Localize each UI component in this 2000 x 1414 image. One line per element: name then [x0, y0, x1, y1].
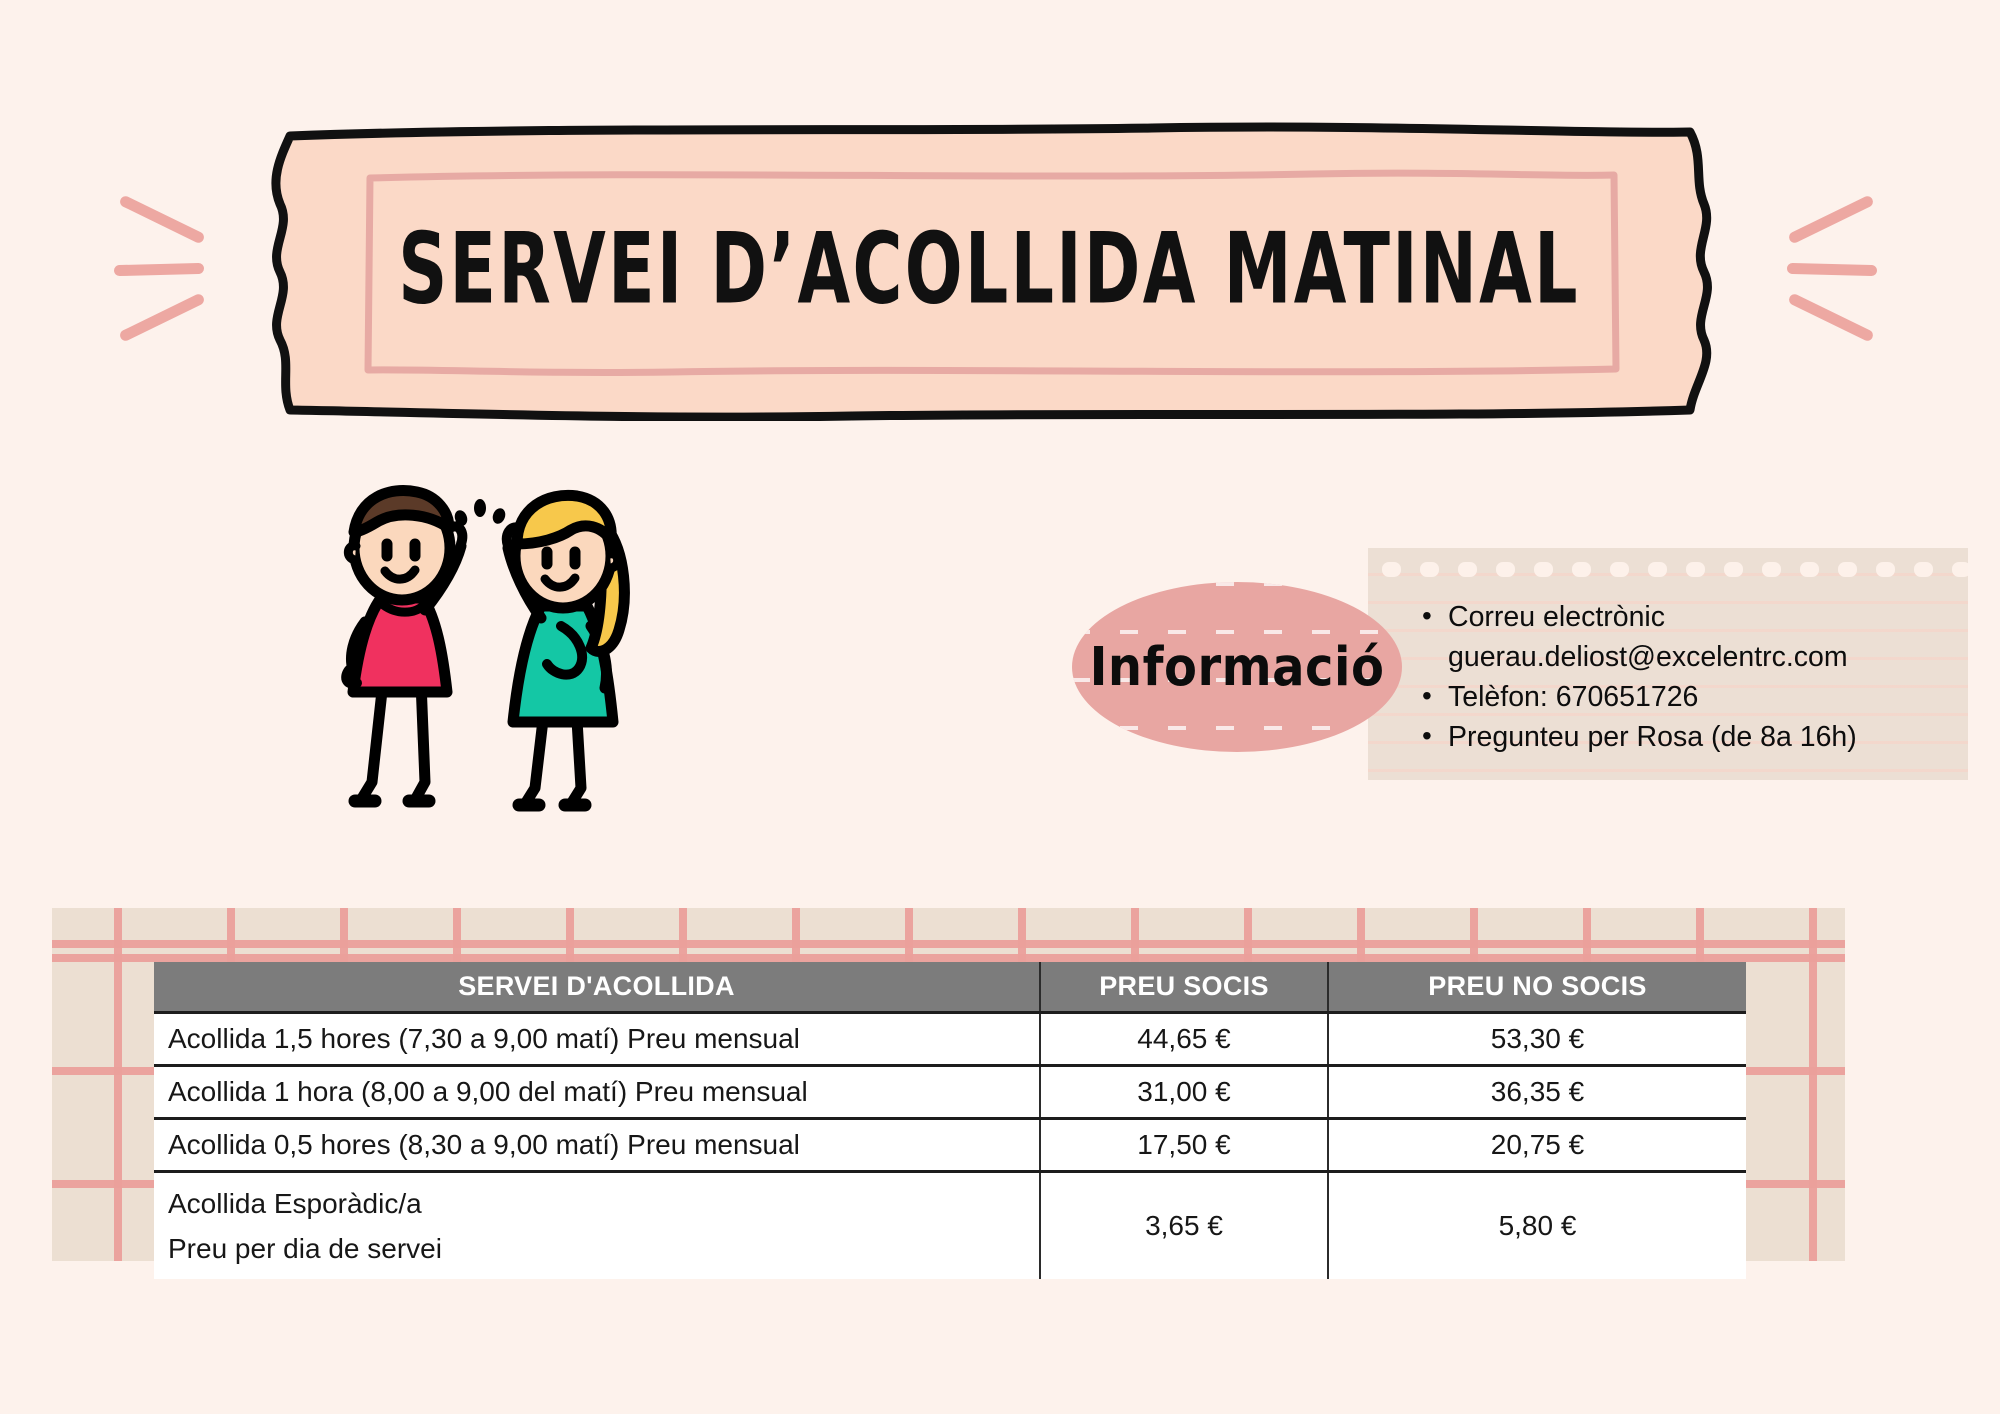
sparkle-line-left-1	[118, 194, 206, 244]
informacio-badge: Informació	[1072, 582, 1402, 752]
title-banner: SERVEI D’ACOLLIDA MATINAL	[252, 122, 1726, 421]
table-header-row: SERVEI D'ACOLLIDA PREU SOCIS PREU NO SOC…	[154, 962, 1746, 1013]
page-title: SERVEI D’ACOLLIDA MATINAL	[311, 74, 1667, 469]
contact-email-value[interactable]: guerau.deliost@excelentrc.com	[1448, 641, 1848, 673]
list-item: Correu electrònic guerau.deliost@excelen…	[1422, 597, 1968, 677]
sparkle-line-right-2	[1787, 263, 1877, 276]
cell-price-non-members: 20,75 €	[1328, 1119, 1746, 1172]
cell-price-non-members: 36,35 €	[1328, 1066, 1746, 1119]
cell-price-members: 44,65 €	[1040, 1013, 1328, 1066]
cell-service-line2: Preu per dia de servei	[168, 1226, 1039, 1271]
cell-price-members: 3,65 €	[1040, 1172, 1328, 1280]
table-row: Acollida 0,5 hores (8,30 a 9,00 matí) Pr…	[154, 1119, 1746, 1172]
contact-person: Pregunteu per Rosa (de 8a 16h)	[1448, 721, 1857, 753]
informacio-badge-label: Informació	[1090, 636, 1385, 699]
cell-service: Acollida Esporàdic/a Preu per dia de ser…	[154, 1172, 1040, 1280]
column-header-price-non-members: PREU NO SOCIS	[1328, 962, 1746, 1013]
sparkle-line-right-1	[1787, 194, 1875, 244]
column-header-service: SERVEI D'ACOLLIDA	[154, 962, 1040, 1013]
children-high-five-illustration	[325, 470, 655, 815]
cell-service: Acollida 1,5 hores (7,30 a 9,00 matí) Pr…	[154, 1013, 1040, 1066]
contact-phone[interactable]: Telèfon: 670651726	[1448, 681, 1698, 713]
table-header: SERVEI D'ACOLLIDA PREU SOCIS PREU NO SOC…	[154, 962, 1746, 1013]
sparkle-line-right-3	[1787, 292, 1875, 342]
table-body: Acollida 1,5 hores (7,30 a 9,00 matí) Pr…	[154, 1013, 1746, 1280]
sparkle-lines-left	[118, 198, 228, 328]
cell-service: Acollida 1 hora (8,00 a 9,00 del matí) P…	[154, 1066, 1040, 1119]
list-item: Pregunteu per Rosa (de 8a 16h)	[1422, 717, 1968, 757]
cell-price-non-members: 5,80 €	[1328, 1172, 1746, 1280]
cell-service-line1: Acollida Esporàdic/a	[168, 1181, 1039, 1226]
contact-list: Correu electrònic guerau.deliost@excelen…	[1368, 548, 1968, 757]
table-row: Acollida Esporàdic/a Preu per dia de ser…	[154, 1172, 1746, 1280]
table-row: Acollida 1,5 hores (7,30 a 9,00 matí) Pr…	[154, 1013, 1746, 1066]
cell-price-members: 31,00 €	[1040, 1066, 1328, 1119]
list-item: Telèfon: 670651726	[1422, 677, 1968, 717]
children-high-five-icon	[325, 470, 655, 815]
cell-service: Acollida 0,5 hores (8,30 a 9,00 matí) Pr…	[154, 1119, 1040, 1172]
pricing-table: SERVEI D'ACOLLIDA PREU SOCIS PREU NO SOC…	[154, 962, 1746, 1279]
sparkle-line-left-2	[114, 263, 204, 276]
sparkle-line-left-3	[118, 292, 206, 342]
sparkle-lines-right	[1785, 198, 1895, 328]
cell-price-members: 17,50 €	[1040, 1119, 1328, 1172]
cell-price-non-members: 53,30 €	[1328, 1013, 1746, 1066]
column-header-price-members: PREU SOCIS	[1040, 962, 1328, 1013]
table-row: Acollida 1 hora (8,00 a 9,00 del matí) P…	[154, 1066, 1746, 1119]
contact-email-label: Correu electrònic	[1448, 601, 1665, 633]
contact-note-paper: Correu electrònic guerau.deliost@excelen…	[1368, 548, 1968, 780]
